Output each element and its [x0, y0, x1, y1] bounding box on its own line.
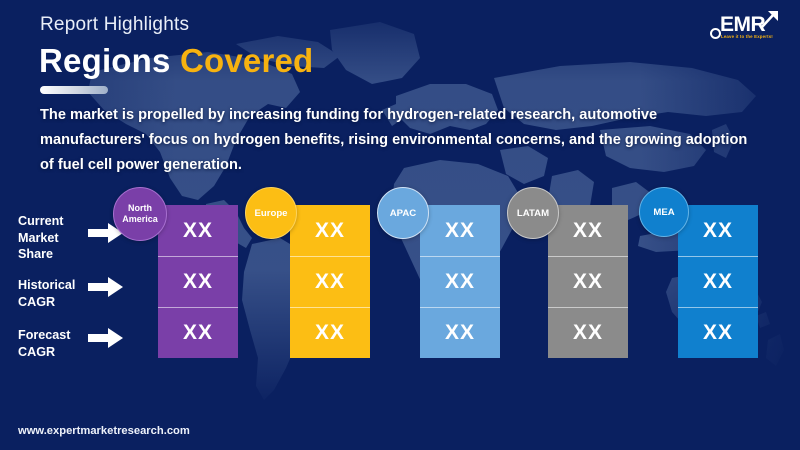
row-arrow-icon: [88, 276, 124, 298]
region-value-cell: XX: [678, 307, 758, 358]
region-badge[interactable]: APAC: [377, 187, 429, 239]
region-column: XXXXXX: [158, 0, 238, 450]
region-column: XXXXXX: [420, 0, 500, 450]
region-badge[interactable]: Europe: [245, 187, 297, 239]
region-value-cell: XX: [290, 307, 370, 358]
region-value-cell: XX: [678, 256, 758, 307]
region-value-cell: XX: [548, 307, 628, 358]
infographic-slide: Report Highlights Regions Covered EMR Le…: [0, 0, 800, 450]
region-value-cell: XX: [548, 205, 628, 256]
region-value-cell: XX: [158, 205, 238, 256]
region-value-cell: XX: [420, 256, 500, 307]
row-label: Historical CAGR: [18, 277, 92, 310]
region-value-cell: XX: [158, 256, 238, 307]
region-value-cell: XX: [420, 307, 500, 358]
region-value-cell: XX: [290, 256, 370, 307]
row-arrow-icon: [88, 327, 124, 349]
region-badge[interactable]: LATAM: [507, 187, 559, 239]
region-column: XXXXXX: [678, 0, 758, 450]
region-value-cell: XX: [678, 205, 758, 256]
region-badge[interactable]: North America: [113, 187, 167, 241]
region-value-cell: XX: [158, 307, 238, 358]
row-label: Current Market Share: [18, 213, 92, 263]
region-value-cell: XX: [290, 205, 370, 256]
region-column: XXXXXX: [290, 0, 370, 450]
region-badge[interactable]: MEA: [639, 187, 689, 237]
region-value-cell: XX: [420, 205, 500, 256]
region-column: XXXXXX: [548, 0, 628, 450]
footer-url[interactable]: www.expertmarketresearch.com: [18, 425, 190, 437]
region-value-cell: XX: [548, 256, 628, 307]
row-label: Forecast CAGR: [18, 327, 92, 360]
